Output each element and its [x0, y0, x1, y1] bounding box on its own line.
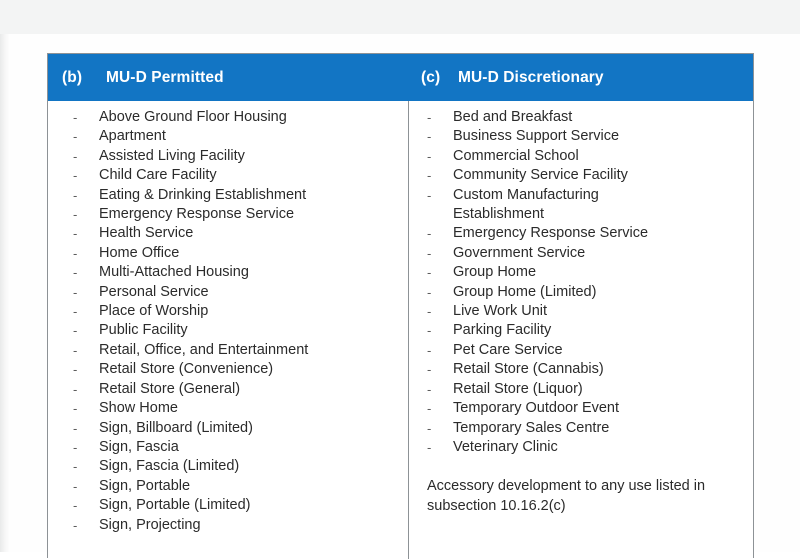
list-item-label: Emergency Response Service: [453, 225, 648, 241]
list-bullet-icon: -: [73, 244, 81, 263]
permitted-uses-list: -Above Ground Floor Housing-Apartment-As…: [48, 108, 408, 535]
list-bullet-icon: -: [427, 283, 435, 302]
permitted-uses-cell: -Above Ground Floor Housing-Apartment-As…: [48, 101, 409, 559]
list-bullet-icon: -: [427, 166, 435, 185]
list-bullet-icon: -: [73, 166, 81, 185]
list-item: -Pet Care Service: [409, 341, 753, 360]
list-item: -Health Service: [48, 224, 408, 243]
list-item: -Above Ground Floor Housing: [48, 108, 408, 127]
column-title-discretionary: MU-D Discretionary: [458, 69, 604, 87]
list-item: -Apartment: [48, 127, 408, 146]
list-item: -Assisted Living Facility: [48, 147, 408, 166]
list-bullet-icon: -: [427, 302, 435, 321]
list-item: -Sign, Fascia: [48, 438, 408, 457]
list-item-label: Show Home: [99, 400, 178, 416]
list-bullet-icon: -: [427, 438, 435, 457]
list-item-label: Group Home (Limited): [453, 284, 596, 300]
list-item: -Multi-Attached Housing: [48, 263, 408, 282]
list-item-label: Above Ground Floor Housing: [99, 109, 287, 125]
list-item-label: Temporary Sales Centre: [453, 420, 609, 436]
list-item: -Temporary Outdoor Event: [409, 399, 753, 418]
list-item-label: Sign, Billboard (Limited): [99, 420, 253, 436]
column-letter-b: (b): [62, 69, 106, 87]
list-bullet-icon: -: [73, 496, 81, 515]
list-item: -Place of Worship: [48, 302, 408, 321]
list-item: -Sign, Fascia (Limited): [48, 457, 408, 476]
list-item: -Home Office: [48, 244, 408, 263]
list-bullet-icon: -: [73, 419, 81, 438]
list-item: -Retail Store (Cannabis): [409, 360, 753, 379]
list-bullet-icon: -: [73, 283, 81, 302]
list-bullet-icon: -: [73, 321, 81, 340]
discretionary-uses-cell: -Bed and Breakfast-Business Support Serv…: [409, 101, 753, 559]
list-item: -Sign, Projecting: [48, 516, 408, 535]
list-bullet-icon: -: [427, 263, 435, 282]
list-item: -Sign, Portable: [48, 477, 408, 496]
table-body-row: -Above Ground Floor Housing-Apartment-As…: [48, 101, 753, 559]
list-item-label: Temporary Outdoor Event: [453, 400, 619, 416]
list-bullet-icon: -: [427, 186, 435, 205]
list-item: -Live Work Unit: [409, 302, 753, 321]
list-bullet-icon: -: [73, 399, 81, 418]
list-item: -Retail Store (General): [48, 380, 408, 399]
mu-d-use-table: (b) MU-D Permitted (c) MU-D Discretionar…: [47, 53, 754, 558]
list-bullet-icon: -: [427, 321, 435, 340]
list-item-label: Retail Store (Convenience): [99, 361, 273, 377]
list-bullet-icon: -: [73, 477, 81, 496]
list-bullet-icon: -: [427, 224, 435, 243]
list-item-label: Sign, Projecting: [99, 517, 201, 533]
list-item: -Group Home (Limited): [409, 283, 753, 302]
list-item: -Parking Facility: [409, 321, 753, 340]
list-item-label: Live Work Unit: [453, 303, 547, 319]
list-item-label: Personal Service: [99, 284, 209, 300]
list-item: -Sign, Portable (Limited): [48, 496, 408, 515]
list-item: -Emergency Response Service: [48, 205, 408, 224]
list-bullet-icon: -: [73, 147, 81, 166]
list-item-label: Retail, Office, and Entertainment: [99, 342, 308, 358]
list-item-label: Sign, Fascia: [99, 439, 179, 455]
table-header-permitted: (b) MU-D Permitted: [48, 54, 409, 101]
list-item: -Public Facility: [48, 321, 408, 340]
list-item-label: Assisted Living Facility: [99, 148, 245, 164]
list-bullet-icon: -: [427, 108, 435, 127]
table-header-discretionary: (c) MU-D Discretionary: [409, 54, 753, 101]
list-item: -Commercial School: [409, 147, 753, 166]
list-item: -Emergency Response Service: [409, 224, 753, 243]
column-letter-c: (c): [421, 69, 458, 87]
scan-left-edge-artifact: [0, 34, 9, 552]
list-item: -Retail, Office, and Entertainment: [48, 341, 408, 360]
list-item: -Temporary Sales Centre: [409, 419, 753, 438]
list-bullet-icon: -: [73, 108, 81, 127]
list-item: -Government Service: [409, 244, 753, 263]
list-item-label: Retail Store (Liquor): [453, 381, 583, 397]
list-item-label: Health Service: [99, 225, 193, 241]
list-item-label: Retail Store (Cannabis): [453, 361, 604, 377]
column-title-permitted: MU-D Permitted: [106, 69, 224, 87]
list-item-label: Emergency Response Service: [99, 206, 294, 222]
list-item-label: Home Office: [99, 245, 179, 261]
list-item: -Custom Manufacturing Establishment: [409, 186, 638, 225]
list-item-label: Public Facility: [99, 322, 188, 338]
list-bullet-icon: -: [73, 224, 81, 243]
list-item-label: Sign, Portable: [99, 478, 190, 494]
list-bullet-icon: -: [73, 457, 81, 476]
list-bullet-icon: -: [73, 516, 81, 535]
list-bullet-icon: -: [73, 302, 81, 321]
list-item: -Retail Store (Liquor): [409, 380, 753, 399]
list-item-label: Business Support Service: [453, 128, 619, 144]
list-item-label: Pet Care Service: [453, 342, 563, 358]
list-item: -Child Care Facility: [48, 166, 408, 185]
list-item: -Bed and Breakfast: [409, 108, 753, 127]
list-bullet-icon: -: [73, 186, 81, 205]
list-item-label: Community Service Facility: [453, 167, 628, 183]
list-item-label: Government Service: [453, 245, 585, 261]
list-item: -Community Service Facility: [409, 166, 753, 185]
table-header-row: (b) MU-D Permitted (c) MU-D Discretionar…: [48, 54, 753, 101]
list-bullet-icon: -: [427, 147, 435, 166]
list-bullet-icon: -: [427, 419, 435, 438]
discretionary-uses-list: -Bed and Breakfast-Business Support Serv…: [409, 108, 753, 457]
list-bullet-icon: -: [427, 399, 435, 418]
list-bullet-icon: -: [73, 205, 81, 224]
list-bullet-icon: -: [427, 341, 435, 360]
list-item-label: Place of Worship: [99, 303, 208, 319]
list-item: -Veterinary Clinic: [409, 438, 753, 457]
scan-top-band: [0, 0, 800, 34]
list-item-label: Sign, Fascia (Limited): [99, 458, 239, 474]
list-item-label: Eating & Drinking Establishment: [99, 187, 306, 203]
list-item-label: Child Care Facility: [99, 167, 217, 183]
list-item-label: Multi-Attached Housing: [99, 264, 249, 280]
list-item: -Sign, Billboard (Limited): [48, 419, 408, 438]
list-item-label: Bed and Breakfast: [453, 109, 572, 125]
list-bullet-icon: -: [73, 360, 81, 379]
list-item-label: Group Home: [453, 264, 536, 280]
list-item: -Business Support Service: [409, 127, 753, 146]
list-bullet-icon: -: [73, 380, 81, 399]
list-item-label: Commercial School: [453, 148, 579, 164]
list-item-label: Sign, Portable (Limited): [99, 497, 251, 513]
list-bullet-icon: -: [73, 438, 81, 457]
list-item: -Personal Service: [48, 283, 408, 302]
list-item-label: Custom Manufacturing Establishment: [453, 187, 599, 222]
list-bullet-icon: -: [427, 380, 435, 399]
discretionary-footnote: Accessory development to any use listed …: [409, 477, 741, 517]
list-item-label: Retail Store (General): [99, 381, 240, 397]
list-item-label: Veterinary Clinic: [453, 439, 558, 455]
list-item-label: Parking Facility: [453, 322, 551, 338]
list-bullet-icon: -: [427, 360, 435, 379]
list-bullet-icon: -: [427, 127, 435, 146]
list-item: -Show Home: [48, 399, 408, 418]
list-item: -Retail Store (Convenience): [48, 360, 408, 379]
list-item: -Group Home: [409, 263, 753, 282]
list-item: -Eating & Drinking Establishment: [48, 186, 408, 205]
list-item-label: Apartment: [99, 128, 166, 144]
list-bullet-icon: -: [73, 127, 81, 146]
list-bullet-icon: -: [427, 244, 435, 263]
list-bullet-icon: -: [73, 341, 81, 360]
list-bullet-icon: -: [73, 263, 81, 282]
